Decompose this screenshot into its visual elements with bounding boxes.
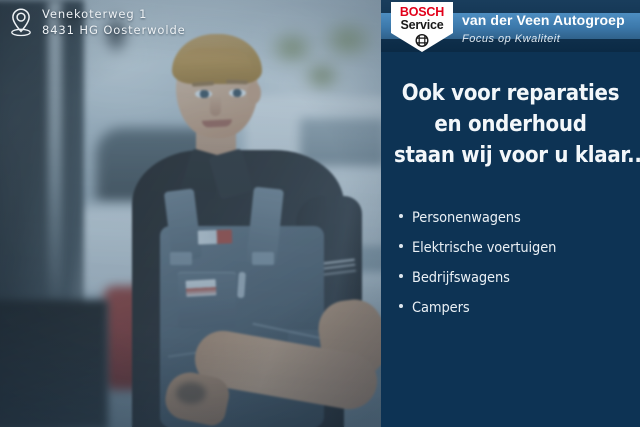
photo-person-nose	[210, 96, 221, 116]
photo-person-eye-right	[229, 89, 246, 97]
photo-dungaree-buckle-left	[170, 252, 192, 265]
photo-dungaree-pocket-tag	[186, 279, 217, 297]
list-item: Bedrijfswagens	[399, 270, 639, 286]
address-overlay: Venekoterweg 1 8431 HG Oosterwolde	[8, 7, 186, 37]
map-pin-icon	[8, 7, 34, 37]
bullet-dot-icon	[399, 274, 403, 278]
brand-text-block: van der Veen Autogroep Focus op Kwalitei…	[462, 2, 625, 46]
photo-person-eyebrow-right	[226, 80, 248, 85]
list-item: Campers	[399, 300, 639, 316]
bullet-dot-icon	[399, 244, 403, 248]
headline-line-2: en onderhoud	[394, 109, 627, 140]
brand-lockup[interactable]: BOSCH Service van der Veen Autogroep Foc…	[391, 2, 625, 52]
headline-line-1: Ook voor reparaties	[394, 78, 627, 109]
company-tagline: Focus op Kwaliteit	[462, 32, 625, 46]
bosch-armature-icon	[414, 34, 430, 47]
service-list: Personenwagens Elektrische voertuigen Be…	[399, 210, 639, 330]
headline: Ook voor reparaties en onderhoud staan w…	[381, 78, 640, 171]
photo-foliage	[262, 18, 381, 96]
advertisement-banner: Venekoterweg 1 8431 HG Oosterwolde BOSCH…	[0, 0, 640, 427]
photo-dungaree-chest-tag	[198, 229, 232, 244]
photo-hand-grease	[176, 382, 206, 404]
photo-person-hair-fringe	[178, 48, 252, 70]
bullet-dot-icon	[399, 304, 403, 308]
company-name: van der Veen Autogroep	[462, 12, 625, 28]
list-item-label: Bedrijfswagens	[412, 270, 510, 286]
photo-person-ear	[247, 82, 261, 104]
list-item-label: Campers	[412, 300, 470, 316]
bosch-service-shield: BOSCH Service	[391, 2, 453, 52]
headline-line-3: staan wij voor u klaar..	[394, 140, 627, 171]
address-lines: Venekoterweg 1 8431 HG Oosterwolde	[42, 8, 186, 37]
service-wordmark: Service	[391, 19, 453, 32]
address-line-street: Venekoterweg 1	[42, 8, 186, 21]
list-item-label: Elektrische voertuigen	[412, 240, 556, 256]
info-panel: BOSCH Service van der Veen Autogroep Foc…	[381, 0, 640, 427]
list-item-label: Personenwagens	[412, 210, 521, 226]
address-line-city: 8431 HG Oosterwolde	[42, 24, 186, 37]
workshop-mechanic-photo: Venekoterweg 1 8431 HG Oosterwolde	[0, 0, 381, 427]
photo-foreground-lower-panel	[0, 300, 108, 427]
list-item: Elektrische voertuigen	[399, 240, 639, 256]
list-item: Personenwagens	[399, 210, 639, 226]
photo-dungaree-buckle-right	[252, 252, 274, 265]
bullet-dot-icon	[399, 214, 403, 218]
